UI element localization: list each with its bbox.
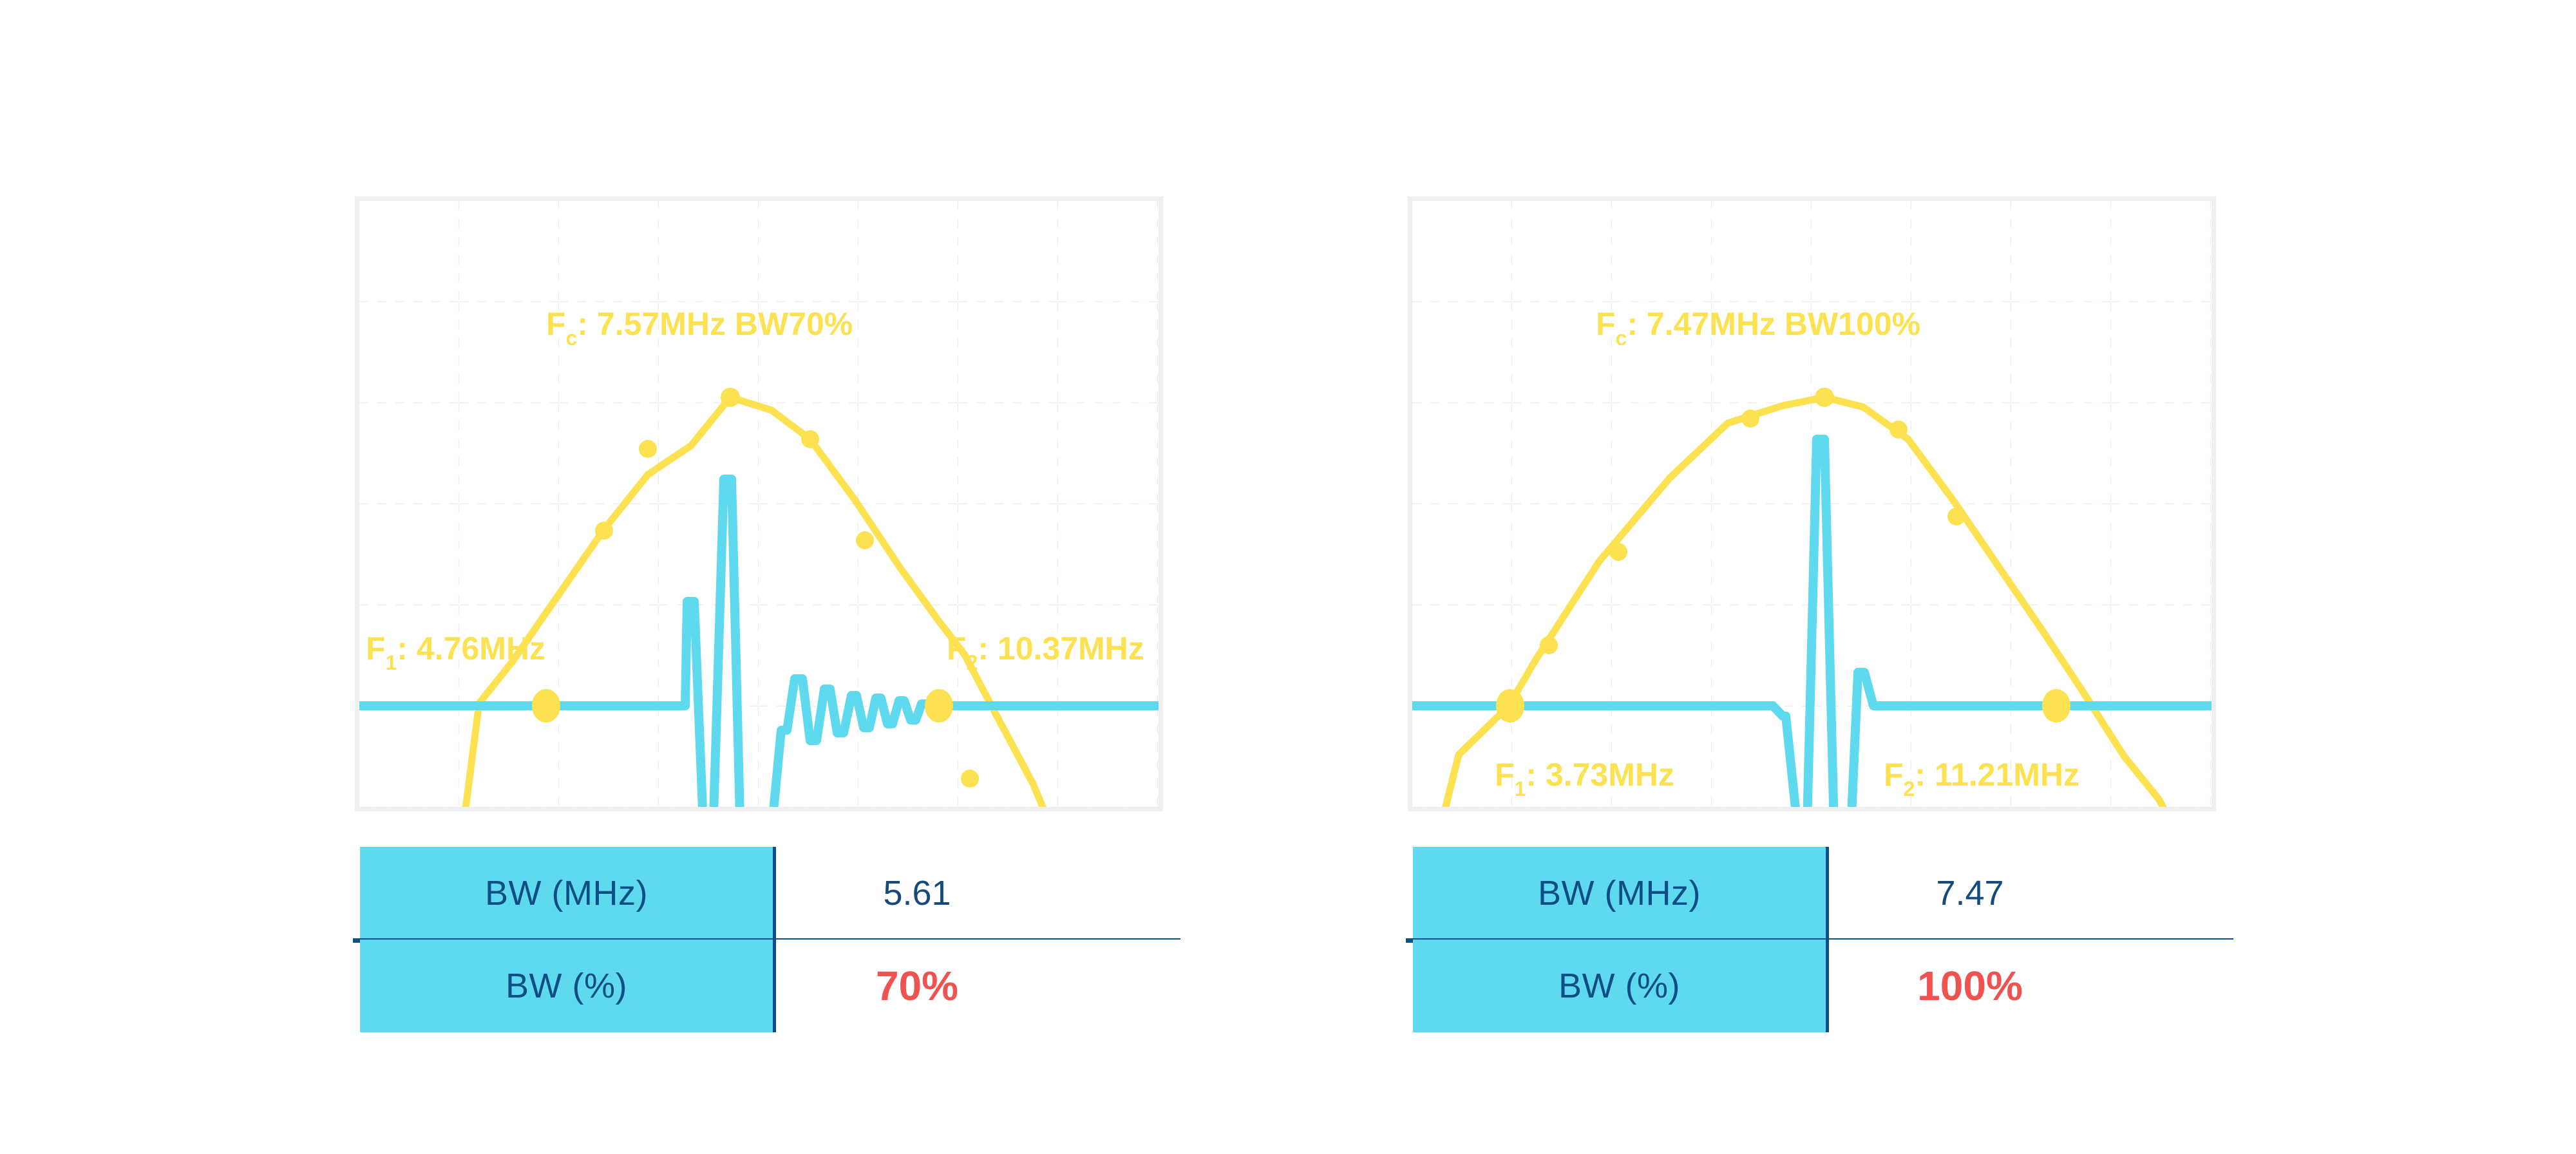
f2-subscript-right: 2: [1904, 777, 1915, 800]
bw-mhz-label-right: BW (MHz): [1538, 873, 1701, 913]
f2-subscript-left: 2: [967, 651, 978, 674]
fc-text-right: : 7.47MHz BW100%: [1627, 306, 1920, 342]
fc-symbol-right: F: [1596, 306, 1616, 342]
fc-subscript-left: c: [566, 326, 578, 350]
bw-pct-label-cell-left: BW (%): [360, 940, 776, 1032]
f1-subscript-left: 1: [386, 651, 397, 674]
bw-mhz-label-cell-right: BW (MHz): [1413, 847, 1829, 940]
bw-mhz-value-right: 7.47: [1936, 873, 2003, 913]
fc-symbol-left: F: [546, 306, 566, 342]
fc-subscript-right: c: [1616, 326, 1627, 350]
bw-mhz-value-left: 5.61: [883, 873, 951, 913]
chart-svg-left: Fc: 7.57MHz BW70% F1: 4.76MHz F2: 10.37M…: [359, 201, 1159, 807]
f1-text-right: : 3.73MHz: [1526, 757, 1674, 793]
bw-pct-value-left: 70%: [876, 962, 958, 1010]
table-row: BW (%) 70%: [353, 940, 1180, 1032]
f1-text-left: : 4.76MHz: [397, 630, 545, 667]
bw-pct-label-right: BW (%): [1558, 966, 1680, 1006]
f2-symbol-right: F: [1884, 757, 1904, 793]
fc-text-left: : 7.57MHz BW70%: [577, 306, 853, 342]
f1-subscript-right: 1: [1515, 777, 1526, 800]
f2-text-left: : 10.37MHz: [978, 630, 1144, 667]
bw-pct-value-right: 100%: [1917, 962, 2023, 1010]
chart-svg-right: Fc: 7.47MHz BW100% F1: 3.73MHz F2: 11.21…: [1412, 201, 2211, 807]
bw-mhz-label-cell-left: BW (MHz): [360, 847, 776, 940]
f1-symbol-left: F: [366, 630, 386, 667]
bw-table-left: BW (MHz) 5.61 BW (%) 70%: [353, 847, 1180, 1032]
bw-pct-value-cell-right: 100%: [1829, 940, 2233, 1032]
chart-panel-right: Fc: 7.47MHz BW100% F1: 3.73MHz F2: 11.21…: [1408, 196, 2216, 811]
bw-mhz-value-cell-right: 7.47: [1829, 847, 2233, 940]
f1-marker-left: [532, 689, 560, 723]
bw-table-right: BW (MHz) 7.47 BW (%) 100%: [1406, 847, 2233, 1032]
table-row: BW (%) 100%: [1406, 940, 2233, 1032]
f1-marker-right: [1496, 689, 1524, 723]
bw-mhz-label-left: BW (MHz): [485, 873, 648, 913]
bw-mhz-value-cell-left: 5.61: [776, 847, 1180, 940]
table-row: BW (MHz) 7.47: [1406, 847, 2233, 940]
f2-symbol-left: F: [947, 630, 967, 667]
screenshot-canvas: Fc: 7.57MHz BW70% F1: 4.76MHz F2: 10.37M…: [0, 0, 2576, 1154]
f2-text-right: : 11.21MHz: [1915, 757, 2079, 793]
f1-symbol-right: F: [1495, 757, 1515, 793]
f2-marker-right: [2042, 689, 2070, 723]
bw-pct-label-cell-right: BW (%): [1413, 940, 1829, 1032]
table-row: BW (MHz) 5.61: [353, 847, 1180, 940]
f2-marker-left: [925, 689, 953, 723]
chart-panel-left: Fc: 7.57MHz BW70% F1: 4.76MHz F2: 10.37M…: [355, 196, 1163, 811]
bw-pct-label-left: BW (%): [506, 966, 627, 1006]
bw-pct-value-cell-left: 70%: [776, 940, 1180, 1032]
